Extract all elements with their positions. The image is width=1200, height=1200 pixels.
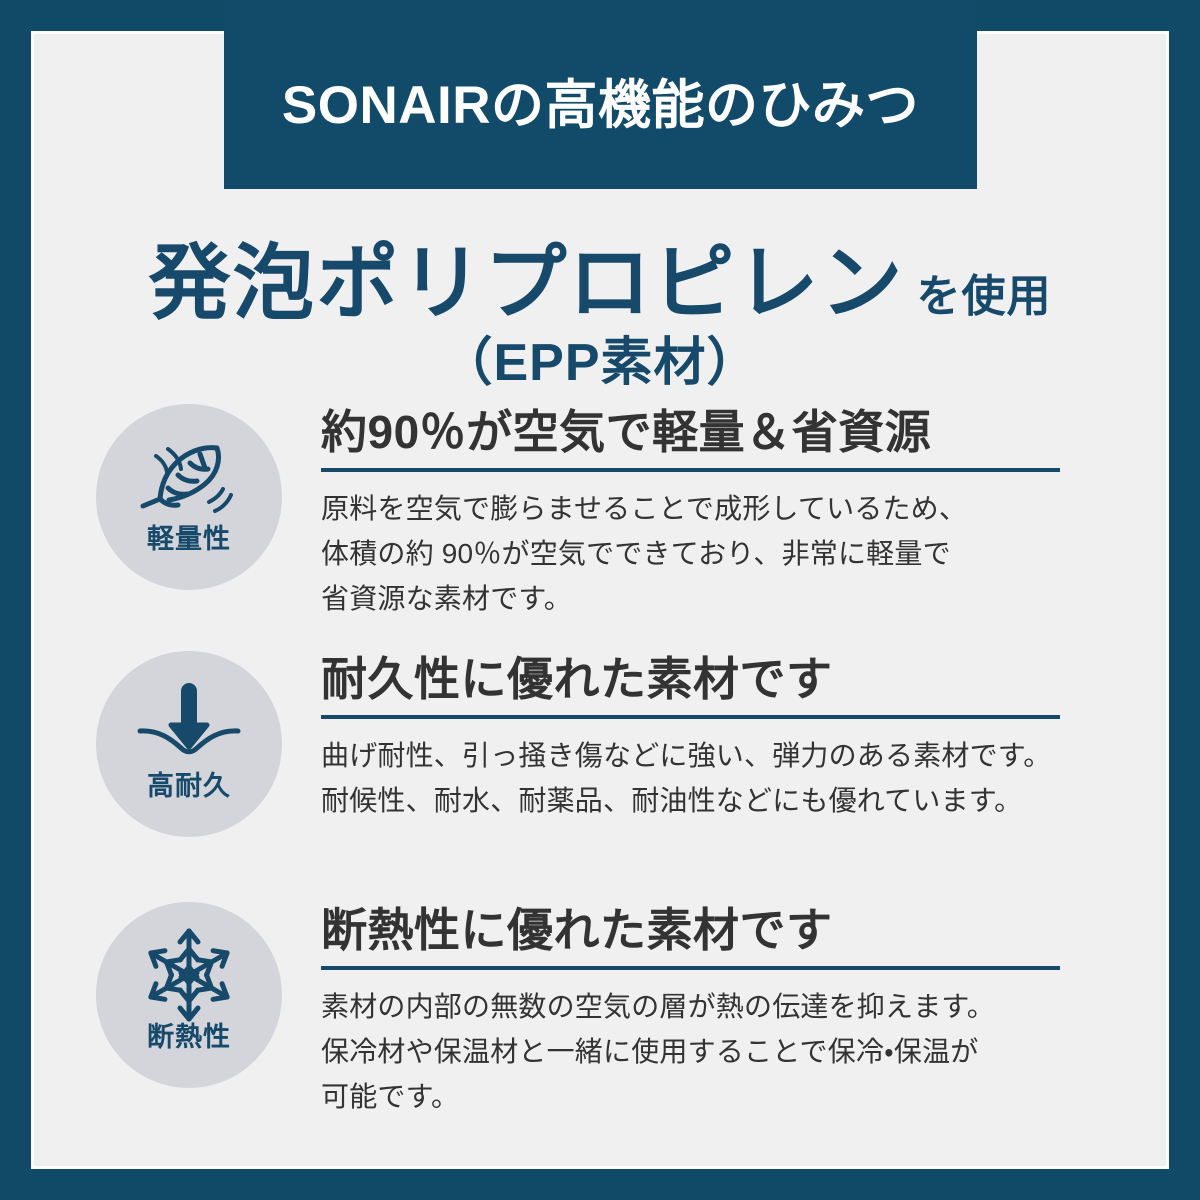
feature-title: 耐久性に優れた素材です bbox=[321, 654, 1106, 706]
feature-badge: 軽量性 bbox=[96, 404, 282, 590]
feature-description-line: 曲げ耐性、引っ掻き傷などに強い、弾力のある素材です。 bbox=[321, 733, 1106, 778]
infographic-page: SONAIRの高機能のひみつ 発泡ポリプロピレンを使用 （EPP素材） bbox=[0, 0, 1200, 1200]
feature-description-line: 原料を空気で膨らませることで成形しているため、 bbox=[321, 486, 1106, 531]
header-banner: SONAIRの高機能のひみつ bbox=[224, 0, 977, 189]
arrow-cushion-icon bbox=[137, 677, 241, 771]
feature-description-line: 保冷材や保温材と一緒に使用することで保冷・保温が bbox=[321, 1029, 1106, 1074]
feature-badge-label: 断熱性 bbox=[147, 1024, 231, 1051]
feature-description: 曲げ耐性、引っ掻き傷などに強い、弾力のある素材です。 耐候性、耐水、耐薬品、耐油… bbox=[321, 733, 1106, 824]
feature-divider bbox=[321, 715, 1060, 719]
banner-title: SONAIRの高機能のひみつ bbox=[282, 57, 919, 132]
feature-badge: 高耐久 bbox=[96, 651, 282, 837]
content-canvas: SONAIRの高機能のひみつ 発泡ポリプロピレンを使用 （EPP素材） bbox=[0, 0, 1200, 1200]
page-title-subtitle: （EPP素材） bbox=[0, 320, 1200, 395]
feature-description-line: 可能です。 bbox=[321, 1074, 1106, 1119]
feature-item-insulation: 断熱性 断熱性に優れた素材です 素材の内部の無数の空気の層が熱の伝達を抑えます。… bbox=[96, 902, 1106, 1120]
feature-divider bbox=[321, 966, 1060, 970]
feature-description: 素材の内部の無数の空気の層が熱の伝達を抑えます。 保冷材や保温材と一緒に使用する… bbox=[321, 984, 1106, 1120]
feature-description-line: 省資源な素材です。 bbox=[321, 576, 1106, 621]
feature-body: 約90％が空気で軽量＆省資源 原料を空気で膨らませることで成形しているため、 体… bbox=[282, 404, 1106, 622]
feature-item-lightweight: 軽量性 約90％が空気で軽量＆省資源 原料を空気で膨らませることで成形しているた… bbox=[96, 404, 1106, 622]
feature-body: 耐久性に優れた素材です 曲げ耐性、引っ掻き傷などに強い、弾力のある素材です。 耐… bbox=[282, 651, 1106, 823]
feature-description-line: 素材の内部の無数の空気の層が熱の伝達を抑えます。 bbox=[321, 984, 1106, 1029]
feature-title: 断熱性に優れた素材です bbox=[321, 905, 1106, 957]
feature-divider bbox=[321, 468, 1060, 472]
snowflake-icon bbox=[137, 928, 241, 1022]
feature-body: 断熱性に優れた素材です 素材の内部の無数の空気の層が熱の伝達を抑えます。 保冷材… bbox=[282, 902, 1106, 1120]
feature-title: 約90％が空気で軽量＆省資源 bbox=[321, 407, 1106, 459]
feature-badge: 断熱性 bbox=[96, 902, 282, 1088]
feature-description-line: 耐候性、耐水、耐薬品、耐油性などにも優れています。 bbox=[321, 778, 1106, 823]
page-title-main: 発泡ポリプロピレン bbox=[148, 238, 904, 329]
feather-icon bbox=[137, 430, 241, 524]
feature-description: 原料を空気で膨らませることで成形しているため、 体積の約 90％が空気でできてお… bbox=[321, 486, 1106, 622]
page-title: 発泡ポリプロピレンを使用 bbox=[0, 216, 1200, 335]
feature-description-line: 体積の約 90％が空気でできており、非常に軽量で bbox=[321, 531, 1106, 576]
page-title-sub: を使用 bbox=[905, 272, 1052, 321]
feature-badge-label: 高耐久 bbox=[147, 773, 231, 800]
feature-badge-label: 軽量性 bbox=[147, 526, 231, 553]
feature-item-durability: 高耐久 耐久性に優れた素材です 曲げ耐性、引っ掻き傷などに強い、弾力のある素材で… bbox=[96, 651, 1106, 837]
